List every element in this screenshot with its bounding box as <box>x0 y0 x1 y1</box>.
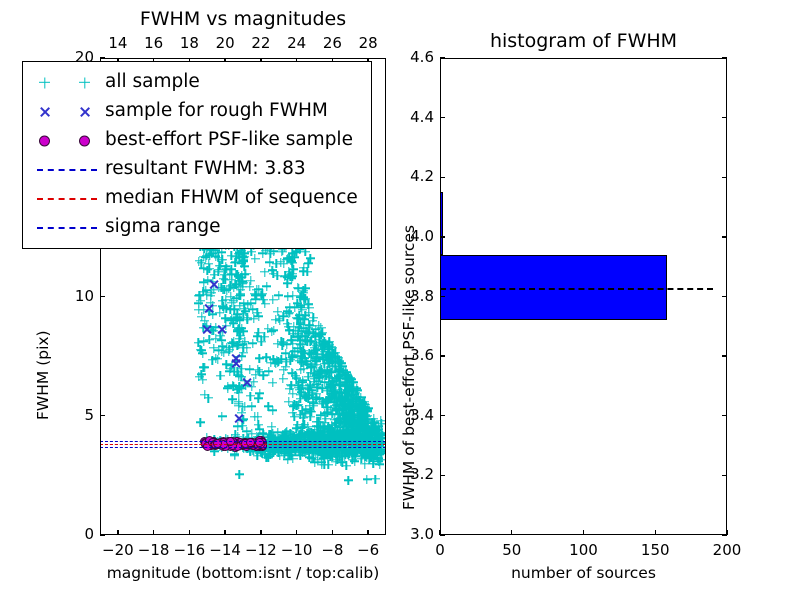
tick-mark <box>100 57 105 58</box>
tick-label-x: 100 <box>558 541 610 559</box>
tick-mark <box>655 530 656 535</box>
tick-mark <box>440 296 445 297</box>
tick-mark <box>722 57 727 58</box>
legend-marker-cross <box>79 106 91 118</box>
tick-label-y: 4.6 <box>388 48 434 66</box>
tick-label-x-top: 28 <box>342 34 394 52</box>
right-panel-xlabel: number of sources <box>440 564 727 582</box>
legend-handle <box>31 101 105 123</box>
tick-mark <box>722 177 727 178</box>
tick-mark <box>260 530 261 535</box>
tick-label-x: 0 <box>414 541 466 559</box>
tick-mark <box>722 236 727 237</box>
legend-handle <box>31 188 105 210</box>
legend-item: sigma range <box>31 213 361 242</box>
legend-line-dashed <box>37 198 97 200</box>
legend-item: median FHWM of sequence <box>31 184 361 213</box>
tick-mark <box>332 530 333 535</box>
tick-mark <box>224 530 225 535</box>
legend-marker-plus <box>39 77 50 88</box>
tick-label-y-left: 10 <box>48 287 94 305</box>
tick-label-x: 200 <box>701 541 753 559</box>
legend-marker-plus <box>79 77 90 88</box>
tick-mark <box>440 475 445 476</box>
tick-label-x-bottom: −6 <box>342 541 394 559</box>
tick-label-y: 3.0 <box>388 525 434 543</box>
tick-mark <box>100 296 105 297</box>
tick-mark <box>296 530 297 535</box>
tick-mark <box>440 355 445 356</box>
tick-mark <box>722 415 727 416</box>
tick-mark <box>722 355 727 356</box>
tick-mark <box>722 117 727 118</box>
figure-canvas: FWHM vs magnitudes −20−18−16−14−12−10−8−… <box>0 0 800 600</box>
tick-mark <box>100 415 105 416</box>
right-panel-title: histogram of FWHM <box>440 30 727 52</box>
tick-label-x: 150 <box>629 541 681 559</box>
tick-label-y-left: 0 <box>48 525 94 543</box>
tick-mark <box>440 57 445 58</box>
legend-item-label: all sample <box>105 73 200 92</box>
legend-handle <box>31 217 105 239</box>
legend-line-dashed <box>37 169 97 171</box>
left-panel-title: FWHM vs magnitudes <box>100 8 386 30</box>
tick-mark <box>440 236 445 237</box>
legend-item: sample for rough FWHM <box>31 97 361 126</box>
tick-mark <box>440 177 445 178</box>
tick-mark <box>583 530 584 535</box>
tick-label-y: 4.4 <box>388 108 434 126</box>
tick-label-y-left: 5 <box>48 406 94 424</box>
legend-item-label: resultant FWHM: 3.83 <box>105 160 306 179</box>
legend-item-label: sigma range <box>105 218 221 237</box>
tick-mark <box>722 296 727 297</box>
tick-mark <box>153 530 154 535</box>
legend-handle <box>31 72 105 94</box>
legend-item: best-effort PSF-like sample <box>31 126 361 155</box>
tick-mark <box>722 534 727 535</box>
tick-mark <box>440 415 445 416</box>
legend: all samplesample for rough FWHMbest-effo… <box>22 61 372 249</box>
legend-marker-dot <box>39 135 50 146</box>
tick-label-x: 50 <box>486 541 538 559</box>
tick-mark <box>722 475 727 476</box>
left-panel-xlabel: magnitude (bottom:isnt / top:calib) <box>100 564 386 582</box>
legend-marker-cross <box>39 106 51 118</box>
legend-line-dashdot <box>37 227 97 229</box>
tick-mark <box>189 530 190 535</box>
tick-mark <box>117 530 118 535</box>
right-axes-frame <box>440 58 727 535</box>
tick-label-y: 4.2 <box>388 167 434 185</box>
tick-mark <box>100 534 105 535</box>
legend-handle <box>31 130 105 152</box>
left-panel-ylabel: FWHM (pix) <box>34 330 52 420</box>
legend-item: resultant FWHM: 3.83 <box>31 155 361 184</box>
legend-item-label: sample for rough FWHM <box>105 102 328 121</box>
legend-handle <box>31 159 105 181</box>
legend-item-label: best-effort PSF-like sample <box>105 131 353 150</box>
tick-mark <box>440 534 445 535</box>
tick-mark <box>440 117 445 118</box>
tick-mark <box>367 530 368 535</box>
legend-item-label: median FHWM of sequence <box>105 189 358 208</box>
legend-marker-dot <box>79 135 90 146</box>
right-panel-ylabel: FWHM of best-effort PSF-like sources <box>400 225 418 510</box>
legend-item: all sample <box>31 68 361 97</box>
tick-mark <box>511 530 512 535</box>
